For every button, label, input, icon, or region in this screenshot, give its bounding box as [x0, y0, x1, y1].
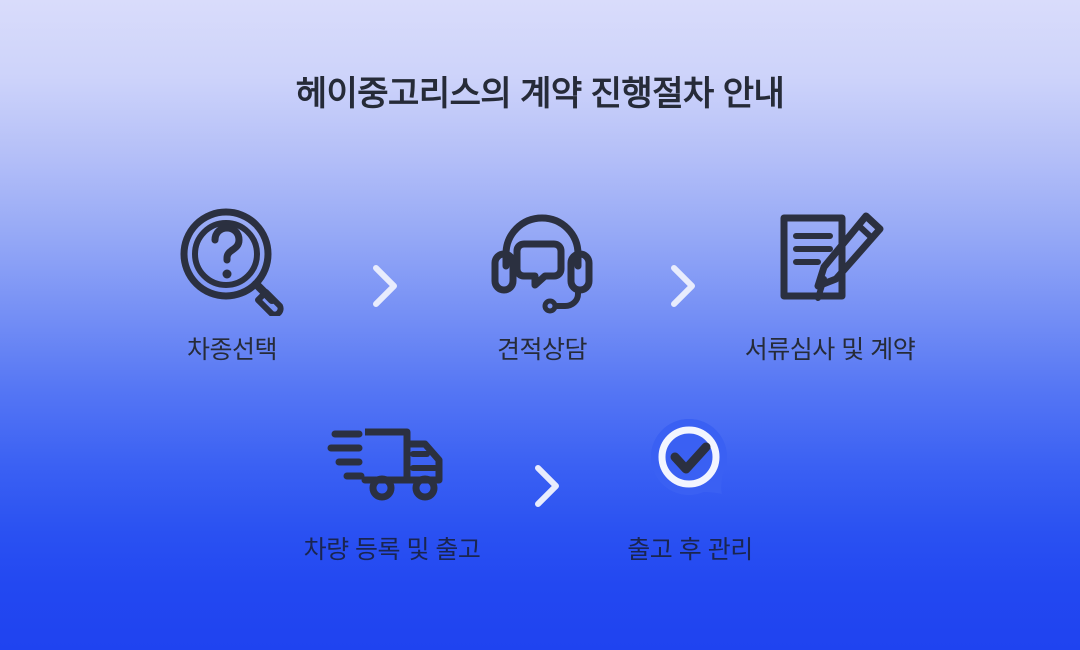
step-item-5: 출고 후 관리	[580, 400, 800, 566]
document-pencil-icon	[720, 200, 940, 320]
check-badge-icon	[580, 400, 800, 520]
step-label-4: 차량 등록 및 출고	[282, 530, 502, 566]
delivery-truck-icon	[282, 400, 502, 520]
magnifier-question-icon	[122, 200, 342, 320]
step-item-4: 차량 등록 및 출고	[282, 400, 502, 566]
chevron-right-icon-3	[528, 458, 568, 514]
step-label-1: 차종선택	[122, 330, 342, 366]
step-item-2: 견적상담	[432, 200, 652, 366]
step-item-1: 차종선택	[122, 200, 342, 366]
page-title: 헤이중고리스의 계약 진행절차 안내	[0, 66, 1080, 115]
step-label-2: 견적상담	[432, 330, 652, 366]
chevron-right-icon-1	[366, 258, 406, 314]
chevron-right-icon-2	[664, 258, 704, 314]
infographic-canvas: 헤이중고리스의 계약 진행절차 안내 차종선택	[0, 0, 1080, 650]
step-label-3: 서류심사 및 계약	[720, 330, 940, 366]
step-item-3: 서류심사 및 계약	[720, 200, 940, 366]
headset-chat-icon	[432, 200, 652, 320]
step-label-5: 출고 후 관리	[580, 530, 800, 566]
